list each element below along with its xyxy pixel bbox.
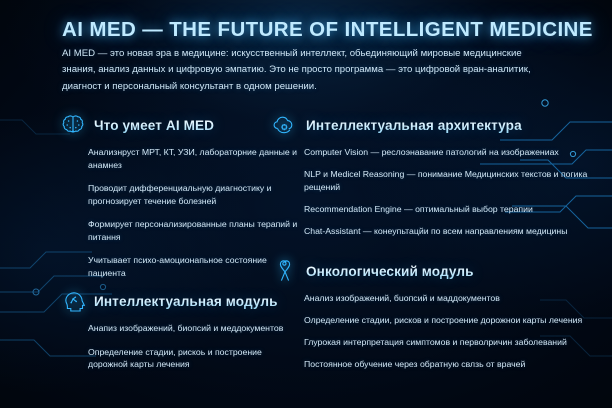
list-item: Проводит дифференциальную диагностику и …: [88, 182, 298, 207]
section-title: Что умеет AI MED: [94, 118, 214, 133]
list-item: Chat-Assistant — конеупьтацйи по всем на…: [304, 225, 602, 238]
brain-icon: [60, 112, 86, 138]
list-item: Олределение стадии, рисков и построение …: [304, 314, 602, 327]
list-item: Recommendation Engine — оптимальный выбо…: [304, 203, 602, 216]
section-item-list: Computer Vision — реслоэнавание патологи…: [304, 146, 602, 237]
list-item: Формирует персонализированные планы тера…: [88, 218, 298, 243]
section-header: Интеллектуальная архитектура: [296, 112, 602, 138]
list-item: Глурокая интерпретация симптомов и перво…: [304, 336, 602, 349]
section-intelligent-module: Интеллектуальная модуль Анапиз изображен…: [60, 288, 298, 382]
list-item: Учитывает психо-амоционапьное состояние …: [88, 254, 298, 279]
section-oncology-module: Онкологический модуль Анализ изображений…: [296, 258, 602, 380]
head-brain-icon: [60, 288, 86, 314]
ribbon-icon: [272, 258, 298, 284]
list-item: NLP и Medicel Reasoning — понимание Меди…: [304, 168, 602, 193]
section-title: Интеллектуальная модуль: [94, 294, 278, 309]
section-title: Онкологический модуль: [306, 264, 474, 279]
list-item: Computer Vision — реслоэнавание патологи…: [304, 146, 602, 159]
section-header: Что умеет AI MED: [60, 112, 298, 138]
section-intelligent-architecture: Интеллектуальная архитектура Computer Vi…: [296, 112, 602, 247]
page-title: AI MED — THE FUTURE OF INTELLIGENT MEDIC…: [62, 18, 593, 42]
section-header: Онкологический модуль: [296, 258, 602, 284]
slide-root: AI MED — THE FUTURE OF INTELLIGENT MEDIC…: [0, 0, 612, 408]
section-header: Интеллектуальная модуль: [60, 288, 298, 314]
list-item: Анапиз изображений, биопсий и меддокумен…: [88, 322, 298, 335]
list-item: Анализнруст МРТ, КТ, УЗИ, лабораторние д…: [88, 146, 298, 171]
list-item: Определение стадии, рискоь и построение …: [88, 346, 298, 371]
lead-paragraph: AI MED — это новая эра в медицине: искус…: [62, 46, 548, 95]
section-title: Интеллектуальная архитектура: [306, 118, 522, 133]
list-item: Постоянное обучение через обратную свлзь…: [304, 358, 602, 371]
cloud-chip-icon: [272, 112, 298, 138]
section-what-ai-med-can-do: Что умеет AI MED Анализнруст МРТ, КТ, УЗ…: [60, 112, 298, 290]
section-item-list: Анализ изображений, бuопсий и маддокумен…: [304, 292, 602, 371]
section-item-list: Анализнруст МРТ, КТ, УЗИ, лабораторние д…: [88, 146, 298, 279]
list-item: Анализ изображений, бuопсий и маддокумен…: [304, 292, 602, 305]
section-item-list: Анапиз изображений, биопсий и меддокумен…: [88, 322, 298, 371]
